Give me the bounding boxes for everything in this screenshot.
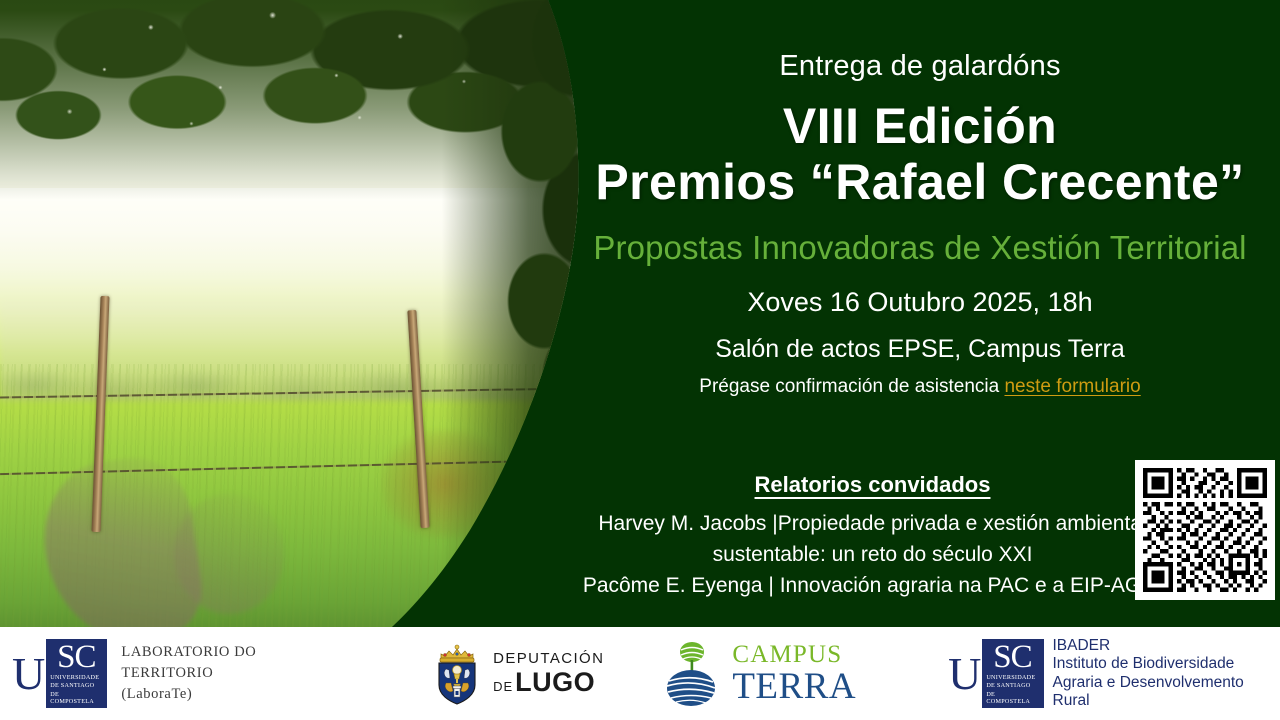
speakers-heading: Relatorios convidados <box>560 472 1185 498</box>
page-title: VIII Edición Premios “Rafael Crecente” <box>560 98 1280 210</box>
usc-subtext-2: DE SANTIAGO <box>50 682 102 689</box>
title-line-2: Premios “Rafael Crecente” <box>560 154 1280 210</box>
rsvp-form-link[interactable]: neste formulario <box>1004 376 1140 397</box>
usc-subtext-1: UNIVERSIDADE <box>50 674 102 681</box>
speakers-list: Harvey M. Jacobs |Propiedade privada e x… <box>560 508 1185 601</box>
poster-content: Entrega de galardóns VIII Edición Premio… <box>560 0 1280 627</box>
usc-box: SC UNIVERSIDADE DE SANTIAGO DE COMPOSTEL… <box>46 639 107 709</box>
event-venue: Salón de actos EPSE, Campus Terra <box>560 335 1280 364</box>
campus-terra-wordmark: CAMPUS TERRA <box>732 642 856 705</box>
usc-letter-u-ibader: U <box>948 651 981 697</box>
usc-subtext-3-ibader: DE COMPOSTELA <box>986 691 1038 706</box>
usc-subtext-1-ibader: UNIVERSIDADE <box>986 674 1038 681</box>
usc-letters-sc: SC <box>57 642 95 673</box>
speaker-line-2: sustentable: un reto do século XXI <box>560 539 1185 570</box>
poster-canvas: Entrega de galardóns VIII Edición Premio… <box>0 0 1280 720</box>
speaker-line-3: Pacôme E. Eyenga | Innovación agraria na… <box>560 570 1185 601</box>
usc-logo-icon-ibader: U SC UNIVERSIDADE DE SANTIAGO DE COMPOST… <box>948 639 1043 709</box>
event-datetime: Xoves 16 Outubro 2025, 18h <box>560 287 1280 318</box>
deputacion-wordmark: DEPUTACIÓN DE LUGO <box>493 651 604 696</box>
ibader-name: IBADER Instituto de Biodiversidade Agrar… <box>1053 637 1280 711</box>
deputacion-line-2: DE LUGO <box>493 669 604 696</box>
terra-word: TERRA <box>732 668 856 705</box>
ibader-line-1: IBADER <box>1053 637 1280 656</box>
campus-terra-tree-icon <box>662 638 724 710</box>
hero-photo <box>0 0 580 627</box>
kicker-text: Entrega de galardóns <box>560 50 1280 83</box>
deputacion-line-1: DEPUTACIÓN <box>493 651 604 666</box>
ibader-line-3: Agraria e Desenvolvemento Rural <box>1053 674 1280 711</box>
usc-box-ibader: SC UNIVERSIDADE DE SANTIAGO DE COMPOSTEL… <box>982 639 1043 709</box>
deputacion-de: DE <box>493 680 513 693</box>
rsvp-line: Prégase confirmación de asistencia neste… <box>560 376 1280 398</box>
logo-deputacion-lugo: DEPUTACIÓN DE LUGO <box>431 627 604 720</box>
logo-campus-terra: CAMPUS TERRA <box>662 627 856 720</box>
logo-usc-laborate: U SC UNIVERSIDADE DE SANTIAGO DE COMPOST… <box>12 627 347 720</box>
tree-canopy-right <box>418 0 580 627</box>
laborate-name: LABORATORIO DO TERRITORIO (LaboraTe) <box>121 642 347 705</box>
usc-letters-sc-ibader: SC <box>993 642 1031 673</box>
subtitle-text: Propostas Innovadoras de Xestión Territo… <box>560 229 1280 267</box>
laborate-line-1: LABORATORIO DO TERRITORIO <box>121 642 347 684</box>
lugo-coat-of-arms-icon <box>431 643 483 705</box>
deputacion-lugo: LUGO <box>515 669 595 696</box>
laborate-line-2: (LaboraTe) <box>121 684 347 705</box>
dirt-path-secondary <box>174 494 284 614</box>
logo-ibader: U SC UNIVERSIDADE DE SANTIAGO DE COMPOST… <box>948 627 1280 720</box>
campus-word: CAMPUS <box>732 642 856 667</box>
usc-subtext-3: DE COMPOSTELA <box>50 691 102 706</box>
title-line-1: VIII Edición <box>560 98 1280 154</box>
qr-code[interactable] <box>1135 460 1275 600</box>
rsvp-prefix: Prégase confirmación de asistencia <box>699 376 1004 397</box>
speaker-line-1: Harvey M. Jacobs |Propiedade privada e x… <box>560 508 1185 539</box>
ibader-line-2: Instituto de Biodiversidade <box>1053 655 1280 674</box>
qr-code-icon <box>1143 468 1267 592</box>
usc-subtext-2-ibader: DE SANTIAGO <box>986 682 1038 689</box>
usc-letter-u: U <box>12 651 45 697</box>
sponsor-footer: U SC UNIVERSIDADE DE SANTIAGO DE COMPOST… <box>0 627 1280 720</box>
usc-logo-icon: U SC UNIVERSIDADE DE SANTIAGO DE COMPOST… <box>12 639 107 709</box>
